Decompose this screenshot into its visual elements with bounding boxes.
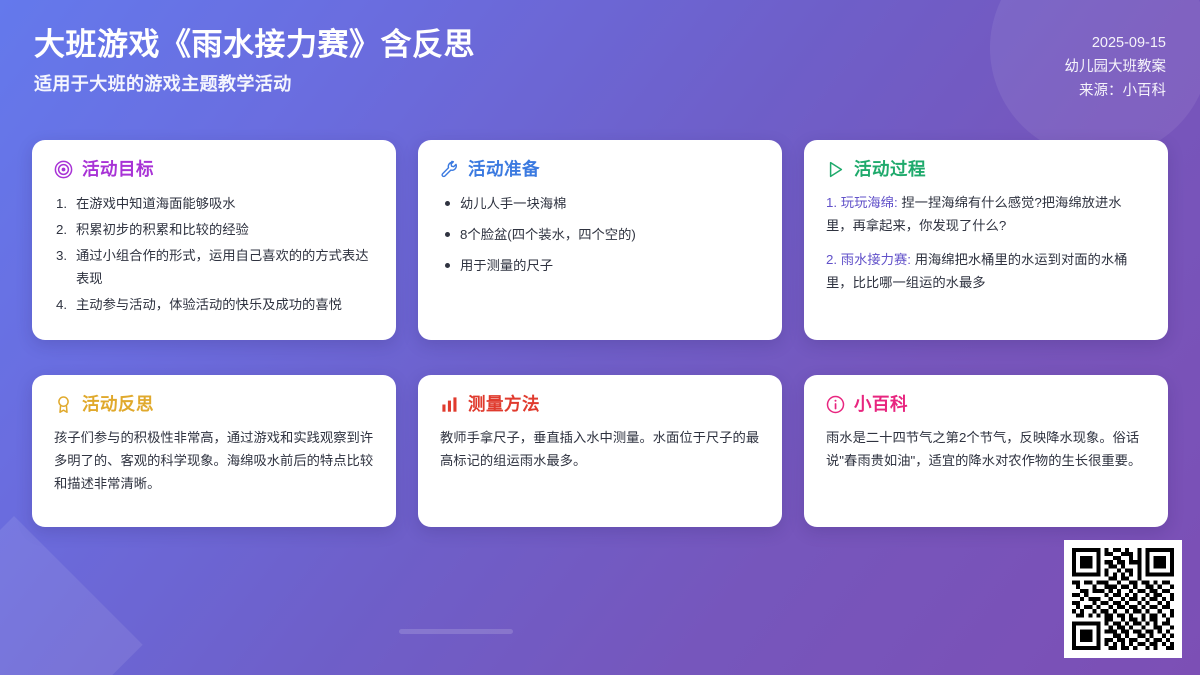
page-header: 大班游戏《雨水接力赛》含反思 适用于大班的游戏主题教学活动 2025-09-15… [0, 0, 1200, 122]
meta-source: 来源：小百科 [1065, 80, 1167, 104]
qr-code[interactable] [1064, 540, 1182, 658]
step-label: 雨水接力赛: [841, 252, 911, 267]
card-header: 活动目标 [54, 160, 374, 179]
list-item: 用于测量的尺子 [440, 254, 760, 277]
card-activity-process: 活动过程 1. 玩玩海绵: 捏一捏海绵有什么感觉?把海绵放进水里，再拿起来，你发… [804, 140, 1168, 340]
header-title-block: 大班游戏《雨水接力赛》含反思 适用于大班的游戏主题教学活动 [34, 22, 475, 96]
header-meta-block: 2025-09-15 幼儿园大班教案 来源：小百科 [1065, 22, 1167, 103]
bar-chart-icon [440, 395, 459, 414]
footer-bar-decoration [399, 629, 513, 634]
list-item: 8个脸盆(四个装水，四个空的) [440, 223, 760, 246]
preparation-list: 幼儿人手一块海棉 8个脸盆(四个装水，四个空的) 用于测量的尺子 [440, 192, 760, 277]
meta-date: 2025-09-15 [1065, 32, 1167, 56]
list-item: 积累初步的积累和比较的经验 [54, 218, 374, 241]
wrench-icon [440, 160, 459, 179]
card-measurement-method: 测量方法 教师手拿尺子，垂直插入水中测量。水面位于尺子的最高标记的组运雨水最多。 [418, 375, 782, 527]
page-subtitle: 适用于大班的游戏主题教学活动 [34, 70, 475, 96]
card-grid: 活动目标 在游戏中知道海面能够吸水 积累初步的积累和比较的经验 通过小组合作的形… [32, 140, 1168, 527]
meta-category: 幼儿园大班教案 [1065, 56, 1167, 80]
card-title: 活动反思 [82, 396, 154, 414]
step-number: 1. [826, 195, 837, 210]
list-item: 在游戏中知道海面能够吸水 [54, 192, 374, 215]
list-item: 幼儿人手一块海棉 [440, 192, 760, 215]
list-item: 通过小组合作的形式，运用自己喜欢的的方式表达表现 [54, 244, 374, 290]
page-title: 大班游戏《雨水接力赛》含反思 [34, 26, 475, 64]
card-title: 活动目标 [82, 161, 154, 179]
encyclopedia-text: 雨水是二十四节气之第2个节气，反映降水现象。俗话说"春雨贵如油"，适宜的降水对农… [826, 427, 1146, 473]
card-title: 活动准备 [468, 161, 540, 179]
card-activity-reflection: 活动反思 孩子们参与的积极性非常高，通过游戏和实践观察到许多明了的、客观的科学现… [32, 375, 396, 527]
step-label: 玩玩海绵: [841, 195, 898, 210]
reflection-text: 孩子们参与的积极性非常高，通过游戏和实践观察到许多明了的、客观的科学现象。海绵吸… [54, 427, 374, 496]
measurement-text: 教师手拿尺子，垂直插入水中测量。水面位于尺子的最高标记的组运雨水最多。 [440, 427, 760, 473]
card-title: 活动过程 [854, 161, 926, 179]
step-number: 2. [826, 252, 837, 267]
diamond-decoration [0, 516, 143, 675]
process-step: 1. 玩玩海绵: 捏一捏海绵有什么感觉?把海绵放进水里，再拿起来，你发现了什么? [826, 192, 1146, 238]
card-activity-goals: 活动目标 在游戏中知道海面能够吸水 积累初步的积累和比较的经验 通过小组合作的形… [32, 140, 396, 340]
qr-code-image [1072, 548, 1174, 650]
card-header: 活动过程 [826, 160, 1146, 179]
card-header: 小百科 [826, 395, 1146, 414]
process-step: 2. 雨水接力赛: 用海绵把水桶里的水运到对面的水桶里，比比哪一组运的水最多 [826, 249, 1146, 295]
card-title: 测量方法 [468, 396, 540, 414]
card-activity-preparation: 活动准备 幼儿人手一块海棉 8个脸盆(四个装水，四个空的) 用于测量的尺子 [418, 140, 782, 340]
card-header: 测量方法 [440, 395, 760, 414]
target-icon [54, 160, 73, 179]
goals-list: 在游戏中知道海面能够吸水 积累初步的积累和比较的经验 通过小组合作的形式，运用自… [54, 192, 374, 316]
card-encyclopedia: 小百科 雨水是二十四节气之第2个节气，反映降水现象。俗话说"春雨贵如油"，适宜的… [804, 375, 1168, 527]
card-title: 小百科 [854, 396, 908, 414]
list-item: 主动参与活动，体验活动的快乐及成功的喜悦 [54, 293, 374, 316]
play-triangle-icon [826, 160, 845, 179]
card-header: 活动准备 [440, 160, 760, 179]
info-circle-icon [826, 395, 845, 414]
card-header: 活动反思 [54, 395, 374, 414]
award-ribbon-icon [54, 395, 73, 414]
